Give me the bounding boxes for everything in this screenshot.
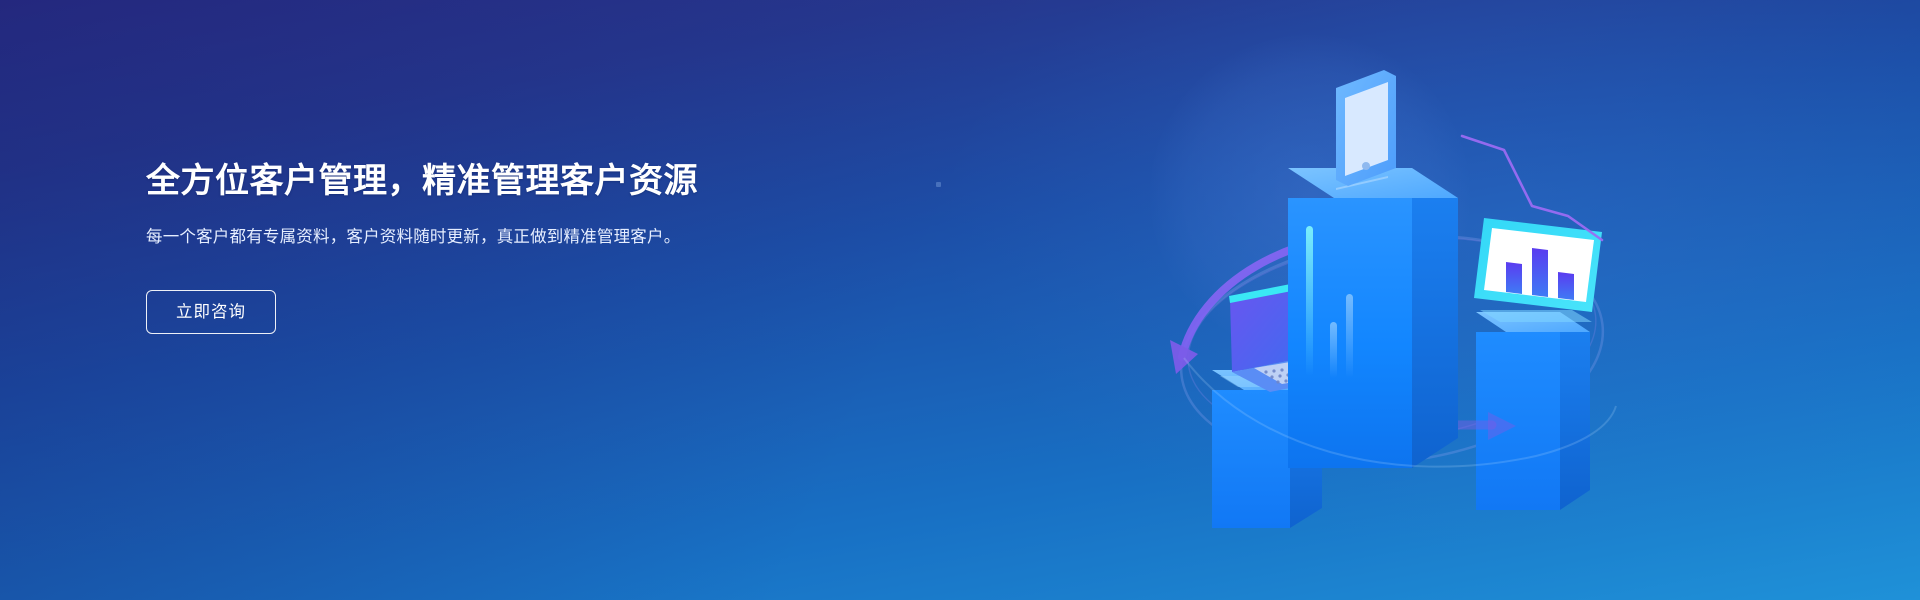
hero-subtitle: 每一个客户都有专属资料，客户资料随时更新，真正做到精准管理客户。 — [146, 225, 736, 251]
page-title: 全方位客户管理，精准管理客户资源 — [146, 160, 766, 203]
hero-illustration — [1140, 40, 1640, 540]
decorative-speck — [936, 182, 941, 187]
monitor-device — [1474, 218, 1602, 322]
hero-copy: 全方位客户管理，精准管理客户资源 每一个客户都有专属资料，客户资料随时更新，真正… — [146, 160, 766, 334]
hero-banner: 全方位客户管理，精准管理客户资源 每一个客户都有专属资料，客户资料随时更新，真正… — [0, 0, 1920, 600]
center-pedestal — [1288, 168, 1458, 468]
consult-now-button[interactable]: 立即咨询 — [146, 290, 276, 334]
cta-wrapper: 立即咨询 — [146, 290, 766, 334]
